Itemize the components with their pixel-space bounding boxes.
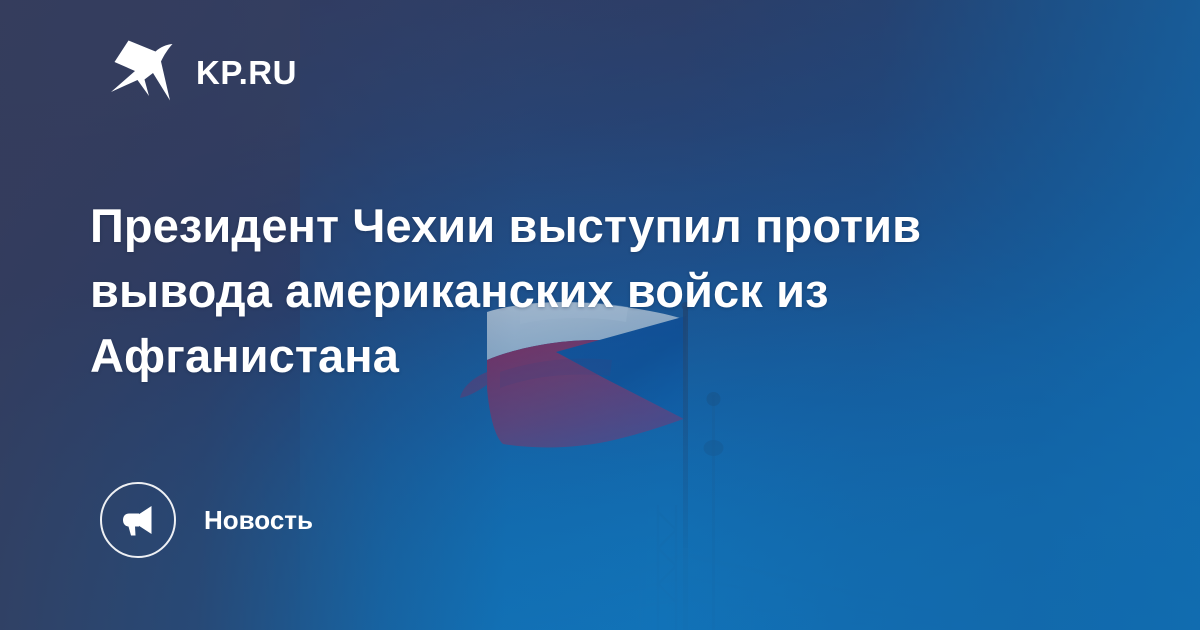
page-title: Президент Чехии выступил против вывода а… (90, 193, 990, 388)
news-badge[interactable]: Новость (100, 482, 313, 558)
brand-logo[interactable]: KP.RU (108, 36, 297, 108)
brand-name: KP.RU (196, 56, 297, 89)
badge-circle (100, 482, 176, 558)
badge-label: Новость (204, 507, 313, 533)
swallow-bird-icon (108, 36, 174, 108)
megaphone-icon (118, 500, 158, 540)
social-share-card: KP.RU Президент Чехии выступил против вы… (0, 0, 1200, 630)
